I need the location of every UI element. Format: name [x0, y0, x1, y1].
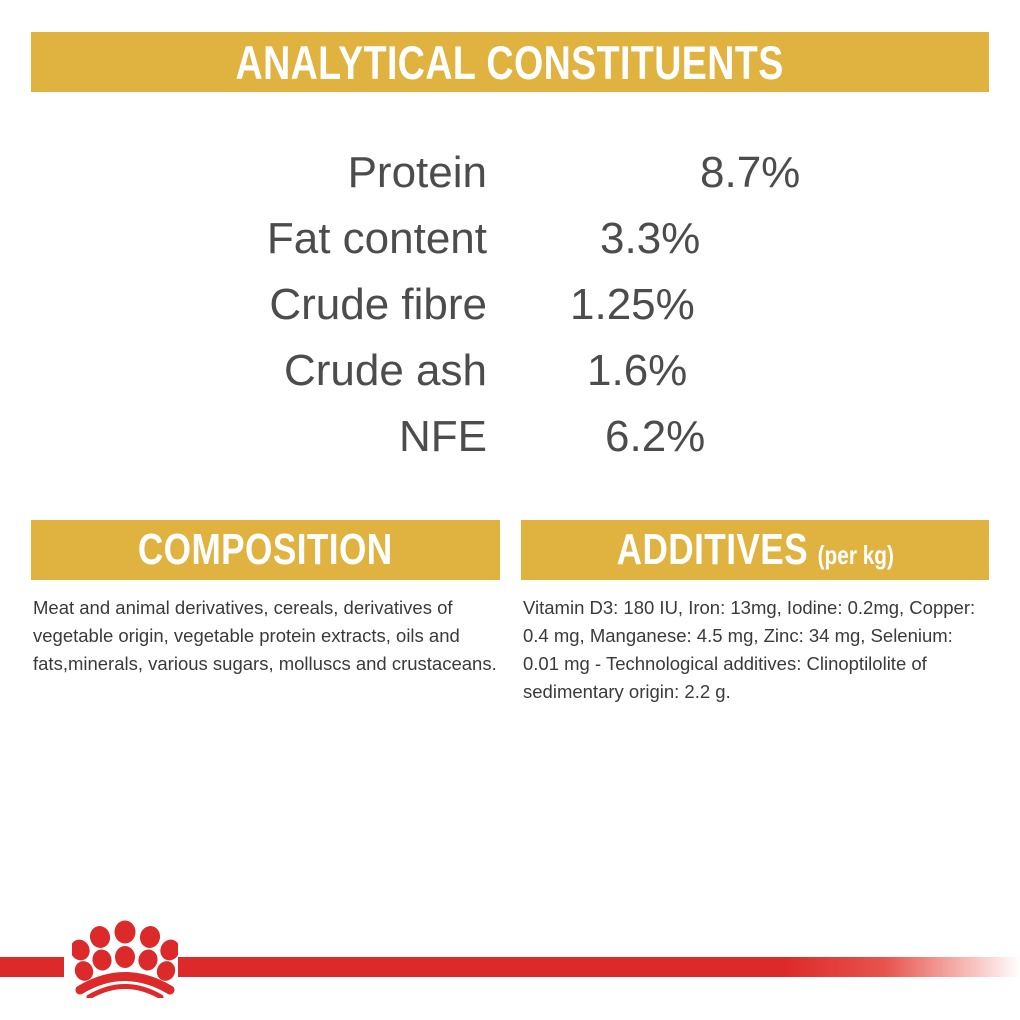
additives-subtitle: (per kg)	[817, 542, 893, 568]
composition-title: COMPOSITION	[138, 528, 393, 572]
analytical-constituents-chart: Protein 8.7% Fat content 3.3% Crude fibr…	[0, 140, 1020, 470]
constituent-row: Fat content 3.3%	[0, 206, 1020, 272]
analytical-constituents-header: ANALYTICAL CONSTITUENTS	[31, 32, 989, 92]
constituent-row: NFE 6.2%	[0, 404, 1020, 470]
analytical-constituents-title: ANALYTICAL CONSTITUENTS	[236, 39, 784, 86]
footer-rule-right	[178, 957, 1020, 977]
constituent-label-nfe: NFE	[0, 415, 487, 459]
constituent-value-crude-fibre: 1.25%	[570, 283, 695, 327]
additives-header: ADDITIVES (per kg)	[521, 520, 989, 580]
composition-text: Meat and animal derivatives, cereals, de…	[33, 594, 503, 678]
constituent-row: Protein 8.7%	[0, 140, 1020, 206]
constituent-row: Crude fibre 1.25%	[0, 272, 1020, 338]
nutrition-fact-panel: ANALYTICAL CONSTITUENTS Protein 8.7% Fat…	[0, 0, 1020, 1020]
constituent-value-nfe: 6.2%	[605, 415, 705, 459]
constituent-value-crude-ash: 1.6%	[587, 349, 687, 393]
constituent-label-crude-fibre: Crude fibre	[0, 283, 487, 327]
footer-rule-left	[0, 957, 64, 977]
composition-header: COMPOSITION	[31, 520, 500, 580]
constituent-label-protein: Protein	[0, 151, 487, 195]
constituent-label-fat-content: Fat content	[0, 217, 487, 261]
additives-title: ADDITIVES	[616, 528, 807, 572]
additives-header-inner: ADDITIVES (per kg)	[616, 528, 893, 572]
constituent-row: Crude ash 1.6%	[0, 338, 1020, 404]
constituent-value-fat-content: 3.3%	[600, 217, 700, 261]
constituent-value-protein: 8.7%	[700, 151, 800, 195]
royal-canin-crown-icon	[72, 920, 178, 998]
brand-footer-band	[0, 900, 1020, 1020]
constituent-label-crude-ash: Crude ash	[0, 349, 487, 393]
additives-text: Vitamin D3: 180 IU, Iron: 13mg, Iodine: …	[523, 594, 993, 706]
